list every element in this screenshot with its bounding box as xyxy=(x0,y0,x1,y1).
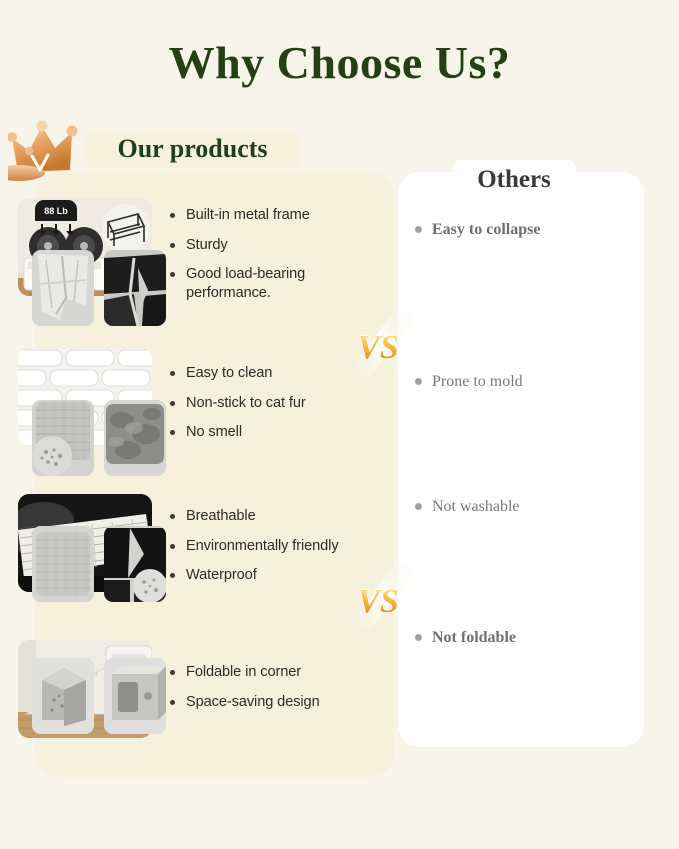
moldy-fabric-photo xyxy=(32,400,94,476)
product-bullets-4: Foldable in corner Space-saving design xyxy=(168,663,358,711)
our-products-banner: Our products xyxy=(85,130,300,168)
others-item-label: Not foldable xyxy=(398,628,644,647)
crown-icon xyxy=(8,118,92,184)
list-item: Environmentally friendly xyxy=(168,537,358,556)
rigid-metal-box-photo xyxy=(104,658,166,734)
vs-badge-2: VS xyxy=(348,566,412,630)
list-item: Space-saving design xyxy=(168,693,358,712)
list-item: Built-in metal frame xyxy=(168,206,358,225)
vs-badge-1: VS xyxy=(348,312,412,376)
list-item: Non-stick to cat fur xyxy=(168,394,358,413)
svg-text:VS: VS xyxy=(357,583,399,620)
others-card xyxy=(398,172,644,747)
our-products-label: Our products xyxy=(85,130,300,168)
list-item: Foldable in corner xyxy=(168,663,358,682)
others-label: Others xyxy=(452,160,576,200)
product-bullets-3: Breathable Environmentally friendly Wate… xyxy=(168,507,358,585)
infographic-page: Why Choose Us? xyxy=(0,0,679,849)
others-banner: Others xyxy=(452,160,576,200)
rigid-gray-box-photo xyxy=(32,658,94,734)
svg-text:VS: VS xyxy=(357,329,399,366)
others-images-4 xyxy=(32,658,166,734)
list-item: Easy to clean xyxy=(168,364,358,383)
list-item: Breathable xyxy=(168,507,358,526)
svg-text:88 Lb: 88 Lb xyxy=(44,206,68,216)
others-row-4: Not foldable xyxy=(398,628,644,647)
list-item: Sturdy xyxy=(168,236,358,255)
collapsed-dark-bag-photo xyxy=(104,250,166,326)
page-title: Why Choose Us? xyxy=(0,36,679,89)
others-row-2: Prone to mold xyxy=(398,372,644,391)
others-item-label: Easy to collapse xyxy=(398,220,644,239)
list-item: No smell xyxy=(168,423,358,442)
others-row-3: Not washable xyxy=(398,497,644,516)
stained-fabric-photo xyxy=(32,526,94,602)
list-item: Good load-bearing performance. xyxy=(168,265,358,302)
product-bullets-1: Built-in metal frame Sturdy Good load-be… xyxy=(168,206,358,303)
collapsed-white-bag-photo xyxy=(32,250,94,326)
others-images-1 xyxy=(32,250,166,326)
others-item-label: Prone to mold xyxy=(398,372,644,391)
others-images-2 xyxy=(32,400,166,476)
dark-stained-fabric-photo xyxy=(104,526,166,602)
others-item-label: Not washable xyxy=(398,497,644,516)
moldy-dark-fabric-photo xyxy=(104,400,166,476)
product-bullets-2: Easy to clean Non-stick to cat fur No sm… xyxy=(168,364,358,442)
others-images-3 xyxy=(32,526,166,602)
list-item: Waterproof xyxy=(168,566,358,585)
others-row-1: Easy to collapse xyxy=(398,220,644,239)
